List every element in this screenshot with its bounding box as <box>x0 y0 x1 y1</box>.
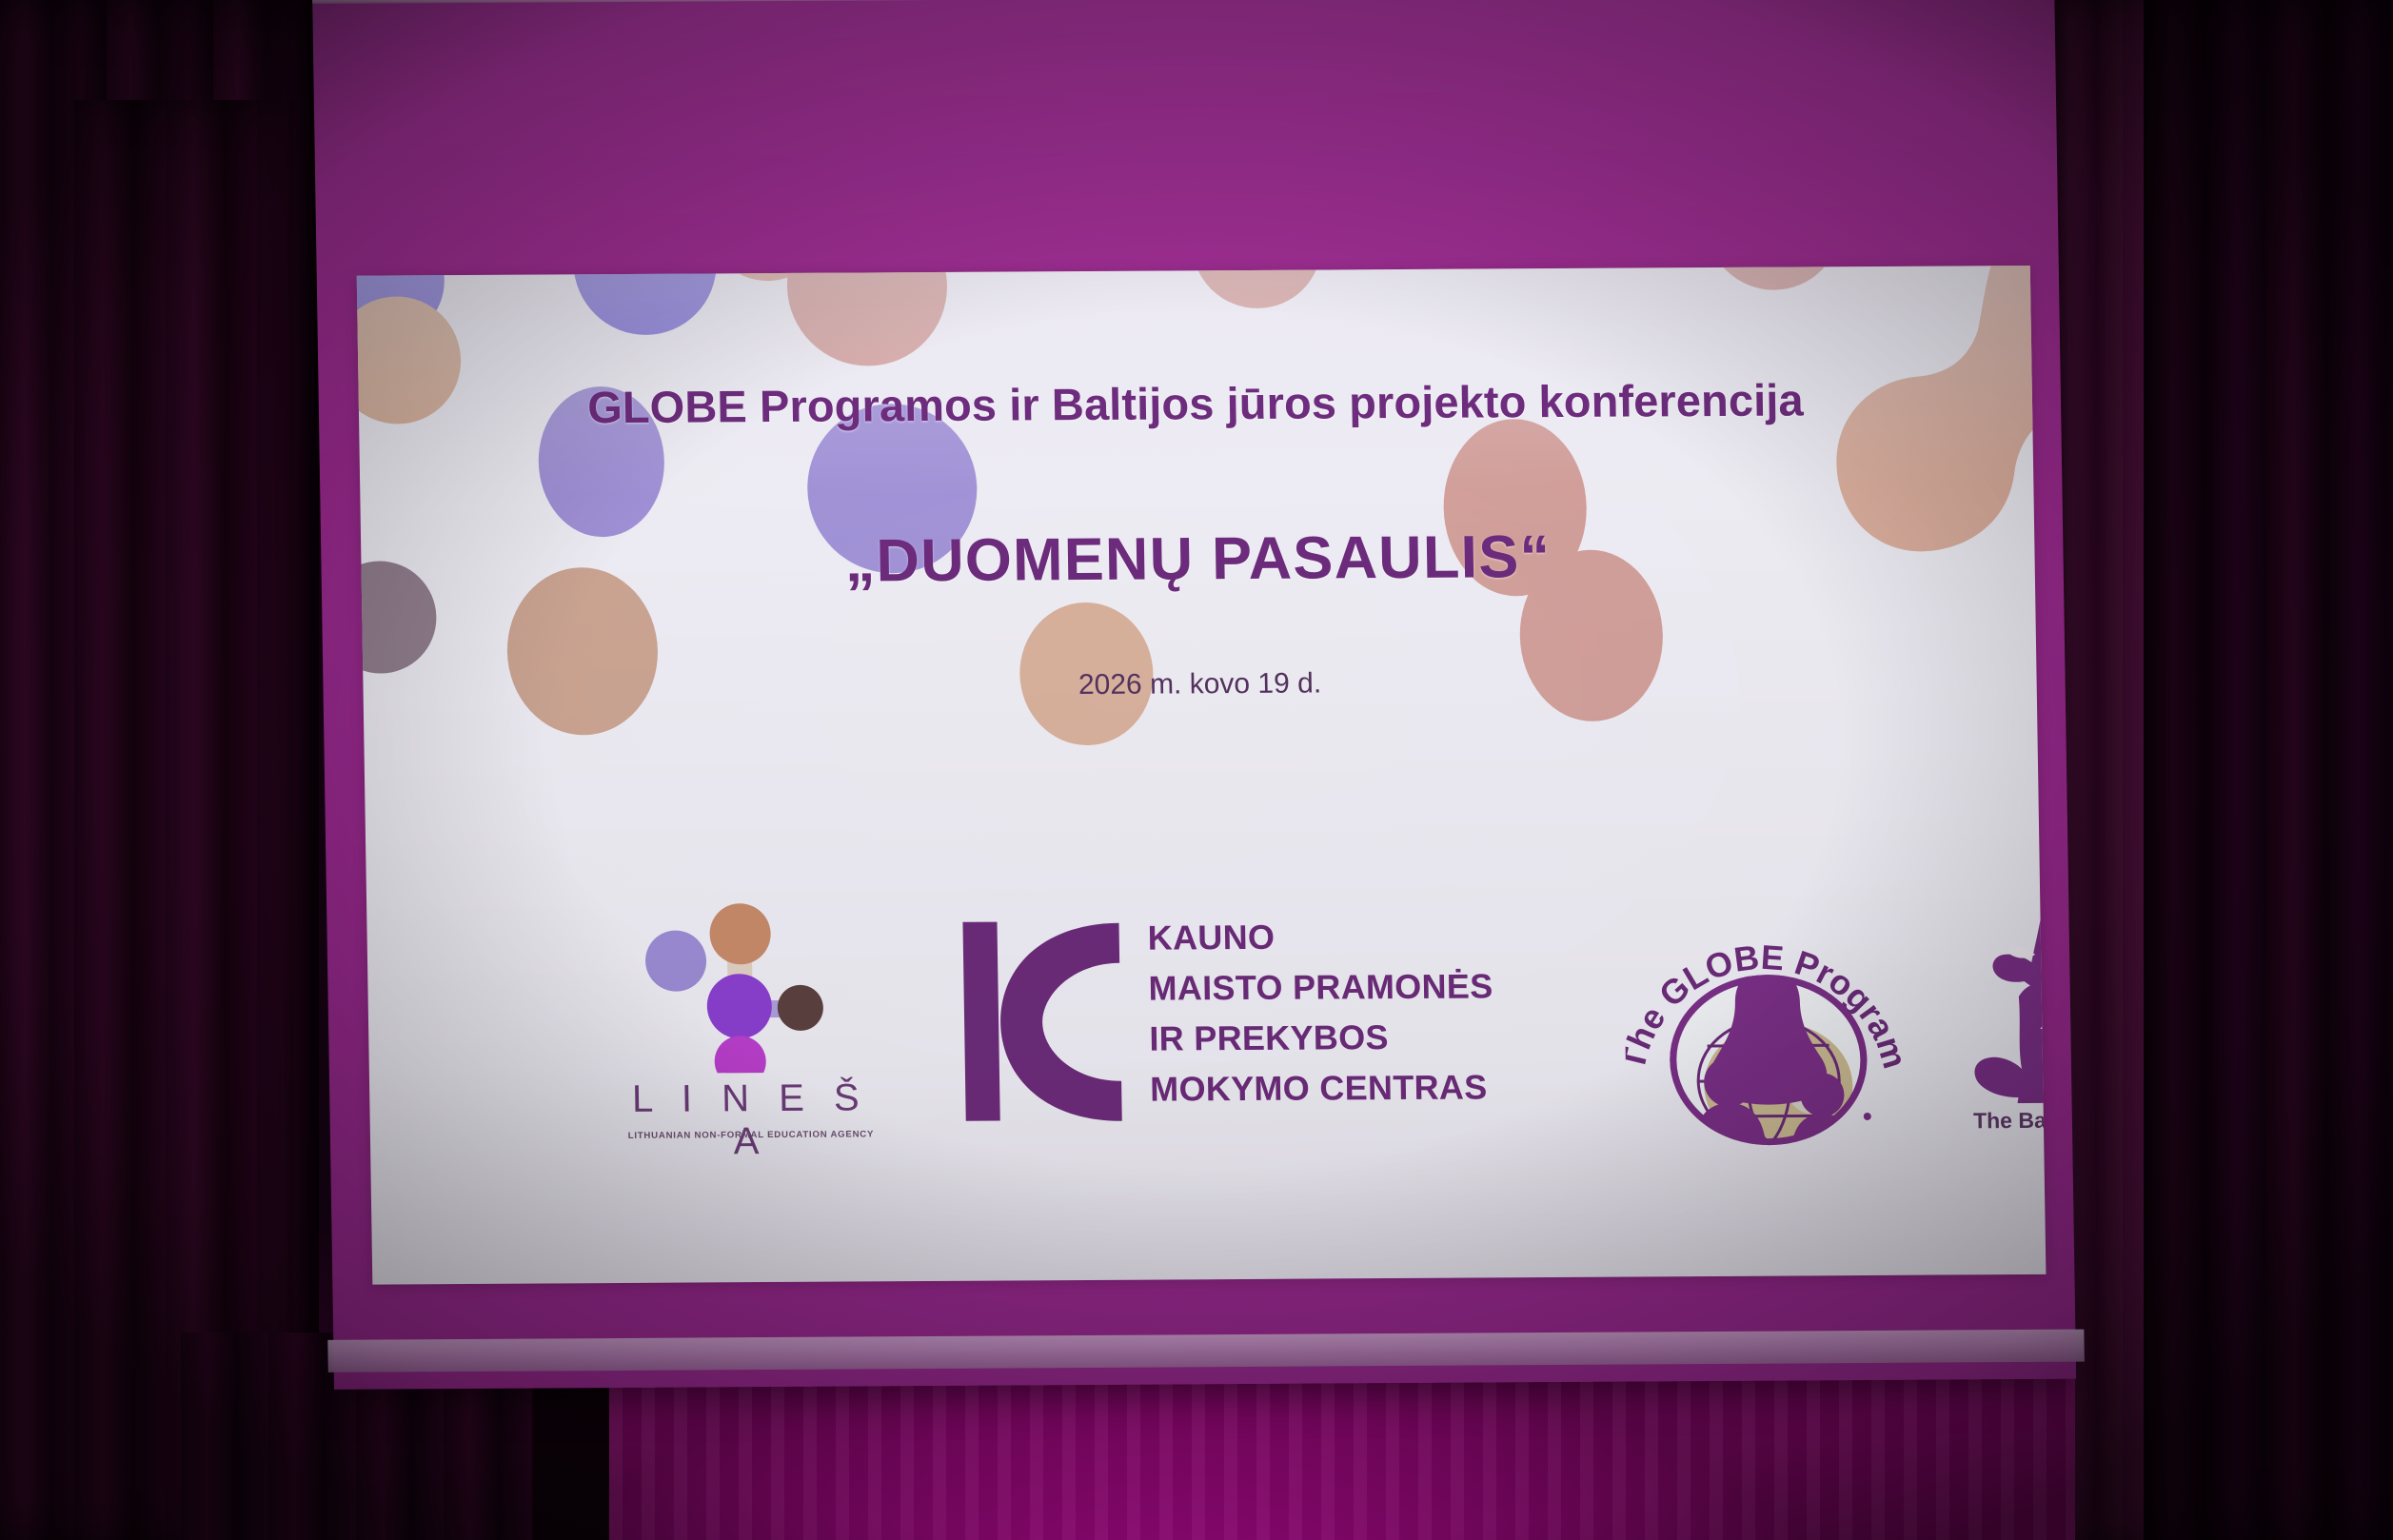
curtain-left-inner <box>74 100 293 1540</box>
stage-background <box>0 0 2393 1540</box>
curtain-lower-left-shadow <box>533 1356 609 1540</box>
curtain-right <box>2144 0 2393 1540</box>
lit-magenta-curtain <box>609 1333 2075 1540</box>
